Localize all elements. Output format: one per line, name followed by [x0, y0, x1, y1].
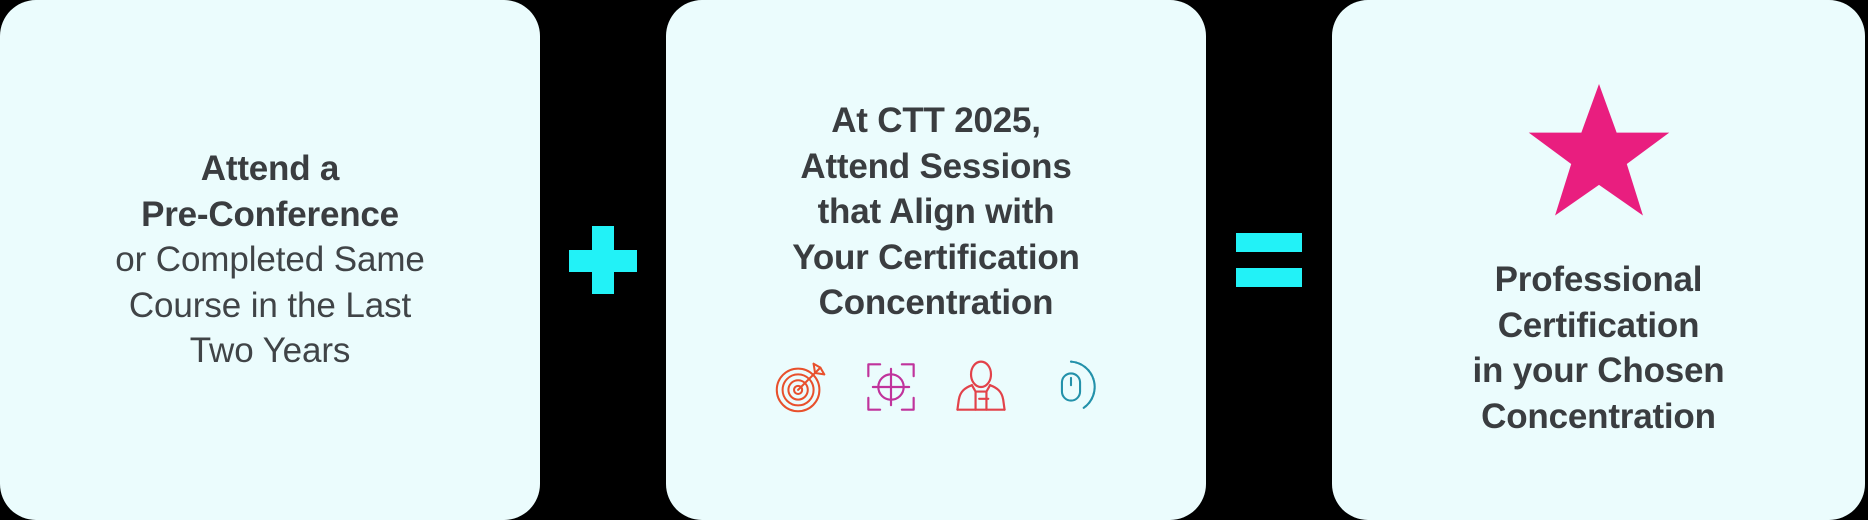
equals-icon-bottom-bar	[1236, 268, 1302, 287]
computer-mouse-icon	[1036, 352, 1106, 422]
sessions-line-1: At CTT 2025,	[792, 98, 1079, 144]
focus-crosshair-icon	[856, 352, 926, 422]
certification-line-3: in your Chosen	[1473, 348, 1725, 394]
sessions-line-3: that Align with	[792, 189, 1079, 235]
professional-person-icon	[946, 352, 1016, 422]
certification-formula-graphic: Attend a Pre-Conference or Completed Sam…	[0, 0, 1868, 520]
prerequisite-line-1: Attend a	[115, 146, 425, 192]
plus-icon	[569, 226, 637, 294]
certification-text-block: Professional Certification in your Chose…	[1473, 257, 1725, 439]
plus-icon-vertical-bar	[592, 226, 614, 294]
sessions-line-4: Your Certification	[792, 235, 1079, 281]
certification-line-1: Professional	[1473, 257, 1725, 303]
star-icon	[1524, 81, 1674, 223]
certification-line-4: Concentration	[1473, 394, 1725, 440]
concentration-icon-row	[766, 352, 1106, 422]
sessions-card: At CTT 2025, Attend Sessions that Align …	[666, 0, 1206, 520]
prerequisite-line-4: Course in the Last	[115, 283, 425, 329]
plus-operator	[540, 0, 666, 520]
equals-operator	[1206, 0, 1332, 520]
prerequisite-card: Attend a Pre-Conference or Completed Sam…	[0, 0, 540, 520]
target-arrow-icon	[766, 352, 836, 422]
prerequisite-line-3: or Completed Same	[115, 237, 425, 283]
certification-line-2: Certification	[1473, 303, 1725, 349]
sessions-line-2: Attend Sessions	[792, 144, 1079, 190]
sessions-text-block: At CTT 2025, Attend Sessions that Align …	[792, 98, 1079, 326]
equals-icon	[1236, 233, 1302, 287]
equals-icon-top-bar	[1236, 233, 1302, 252]
prerequisite-text-block: Attend a Pre-Conference or Completed Sam…	[115, 146, 425, 374]
sessions-line-5: Concentration	[792, 280, 1079, 326]
prerequisite-line-5: Two Years	[115, 328, 425, 374]
certification-card: Professional Certification in your Chose…	[1332, 0, 1865, 520]
prerequisite-line-2: Pre-Conference	[115, 192, 425, 238]
